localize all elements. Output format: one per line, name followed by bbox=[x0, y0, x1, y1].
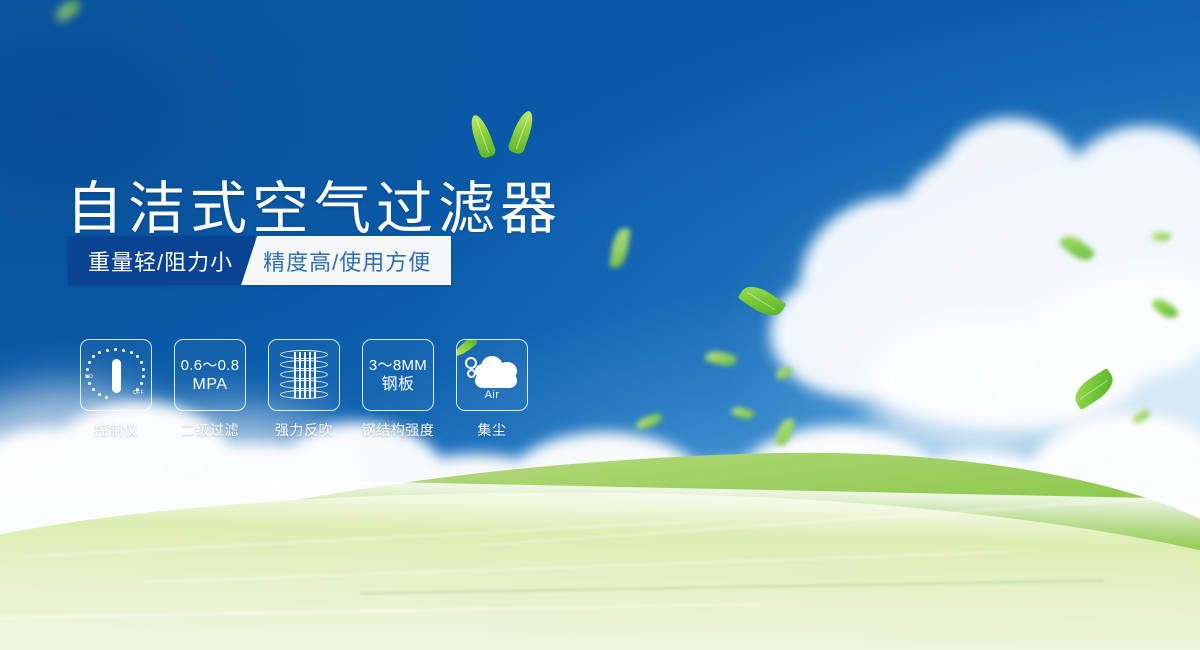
air-cloud-icon bbox=[465, 354, 519, 388]
feature-icon-box: NO OFF bbox=[80, 339, 152, 411]
feature-label: 集尘 bbox=[477, 420, 506, 440]
feature-item-steel[interactable]: 3～8MM 钢板 钢结构强度 bbox=[362, 339, 434, 440]
gauge-icon: NO OFF bbox=[86, 346, 146, 404]
gauge-needle bbox=[112, 359, 121, 393]
feature-list: NO OFF 控制仪 0.6～0.8 MPA 二级过滤 bbox=[80, 339, 528, 440]
filter-stack-icon bbox=[280, 350, 328, 400]
subtitle-left-segment: 重量轻/阻力小 bbox=[68, 236, 255, 285]
hero-banner: 自洁式空气过滤器 重量轻/阻力小 精度高/使用方便 bbox=[0, 0, 1200, 650]
feature-item-pressure[interactable]: 0.6～0.8 MPA 二级过滤 bbox=[174, 339, 246, 440]
grass-field bbox=[0, 420, 1200, 650]
pressure-unit-text: MPA bbox=[193, 375, 228, 394]
feature-icon-box bbox=[268, 339, 340, 411]
feature-item-dust-collection[interactable]: Air 集尘 bbox=[456, 339, 528, 440]
steel-thickness-text: 3～8MM bbox=[369, 356, 427, 375]
feature-icon-box: 3～8MM 钢板 bbox=[362, 339, 434, 411]
page-title: 自洁式空气过滤器 bbox=[66, 181, 562, 238]
feature-item-backblow[interactable]: 强力反吹 bbox=[268, 339, 340, 440]
air-label: Air bbox=[485, 389, 500, 401]
steel-plate-text: 钢板 bbox=[381, 375, 414, 394]
feature-label: 二级过滤 bbox=[181, 420, 239, 440]
grass-hill-front bbox=[0, 476, 1200, 650]
feature-label: 钢结构强度 bbox=[362, 420, 435, 440]
feature-icon-box: 0.6～0.8 MPA bbox=[174, 339, 246, 411]
gauge-label-no: NO bbox=[85, 374, 93, 380]
gauge-label-off: OFF bbox=[133, 390, 144, 396]
feature-item-control-gauge[interactable]: NO OFF 控制仪 bbox=[80, 339, 152, 440]
leaf-icon-left bbox=[467, 113, 497, 160]
pressure-value-text: 0.6～0.8 bbox=[181, 356, 240, 375]
feature-label: 控制仪 bbox=[94, 420, 138, 440]
title-leaf-pair bbox=[470, 108, 550, 164]
subtitle-bar: 重量轻/阻力小 精度高/使用方便 bbox=[68, 236, 451, 285]
feature-icon-box: Air bbox=[456, 339, 528, 411]
feature-label: 强力反吹 bbox=[275, 420, 333, 440]
subtitle-right-segment: 精度高/使用方便 bbox=[241, 236, 451, 285]
leaf-icon-right bbox=[507, 109, 537, 156]
